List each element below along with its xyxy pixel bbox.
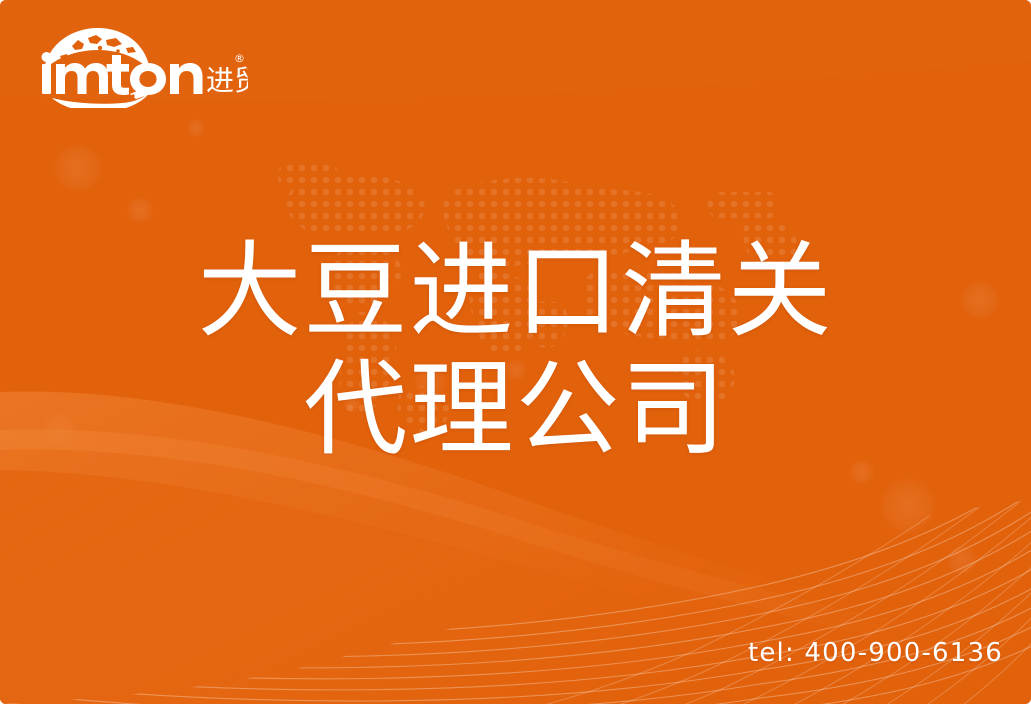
- promo-banner: 进贸通 ® 大豆进口清关 代理公司 tel: 400-900-6136: [0, 0, 1031, 704]
- headline-block: 大豆进口清关 代理公司: [0, 236, 1031, 464]
- logo-chinese-name: 进贸通: [206, 64, 248, 97]
- headline-line-1: 大豆进口清关: [0, 236, 1031, 346]
- brand-logo[interactable]: 进贸通 ®: [38, 26, 248, 108]
- registered-mark-icon: ®: [234, 52, 245, 65]
- telephone-text: tel: 400-900-6136: [748, 638, 1003, 668]
- headline-line-2: 代理公司: [0, 354, 1031, 464]
